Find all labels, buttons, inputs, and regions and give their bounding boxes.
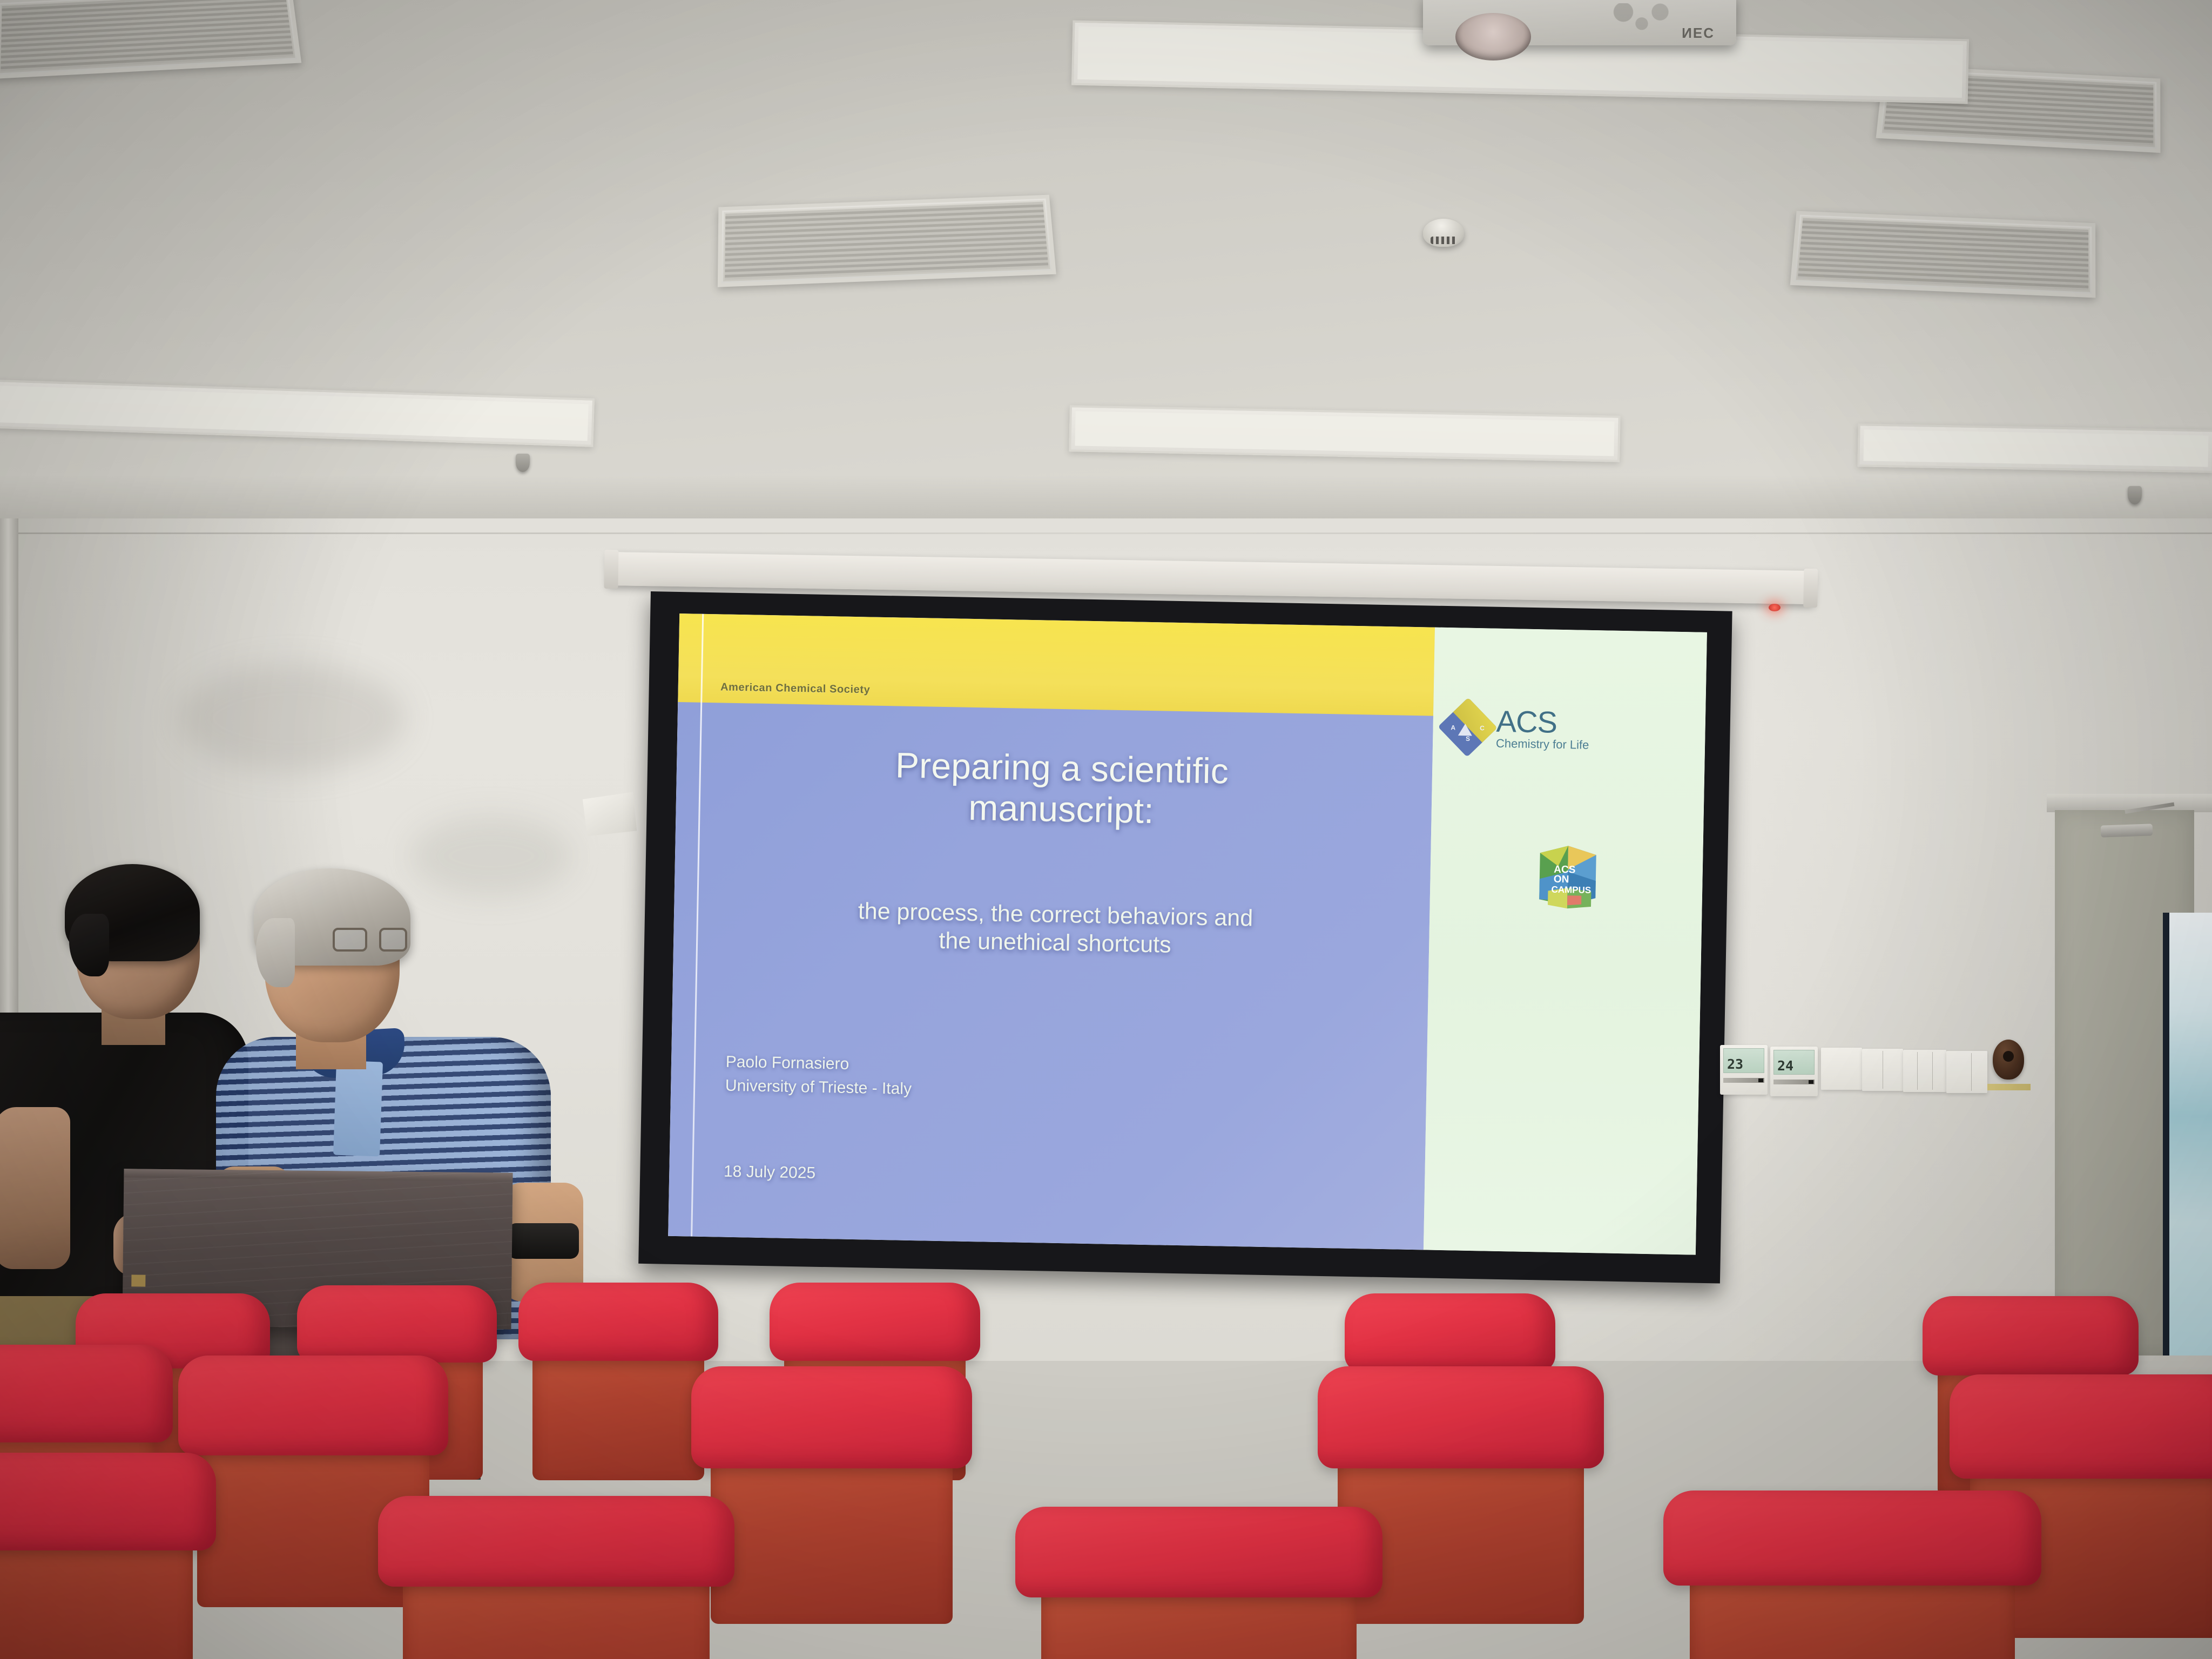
ceiling-light-panel-4 <box>1857 423 2212 473</box>
slide-title: Preparing a scientific manuscript: <box>721 742 1402 836</box>
door-closer-body <box>2101 824 2153 837</box>
vent-louvers <box>1 0 293 71</box>
acs-diamond-icon: A C S <box>1438 698 1497 757</box>
window-glazing <box>2163 913 2212 1355</box>
thermostat-2-slider[interactable] <box>1773 1080 1815 1084</box>
acs-wordmark-text: ACS <box>1496 706 1589 738</box>
acs-society-label: American Chemical Society <box>720 682 871 697</box>
switch-divider <box>1917 1052 1918 1090</box>
seat-headrest <box>691 1366 972 1468</box>
light-switch-plate-2[interactable] <box>1862 1049 1903 1091</box>
acs-letter-c: C <box>1480 724 1485 732</box>
sprinkler-head-icon <box>516 454 530 472</box>
light-switch-plate-3[interactable] <box>1903 1050 1946 1092</box>
seat-headrest <box>1318 1366 1604 1468</box>
screen-status-led <box>1769 604 1781 611</box>
slide-date: 18 July 2025 <box>724 1162 816 1182</box>
glasses-lens-right <box>379 928 407 952</box>
presentation-slide: American Chemical Society Preparing a sc… <box>668 613 1707 1255</box>
acs-diamond-letters: A C S <box>1446 706 1489 748</box>
ceiling-projector: NEC <box>1423 0 1736 45</box>
thermostat-1[interactable]: 23 <box>1720 1045 1768 1095</box>
presenter-right-placket <box>333 1061 383 1157</box>
acs-tagline: Chemistry for Life <box>1496 738 1589 751</box>
seat-headrest <box>1015 1507 1382 1597</box>
switch-divider <box>1883 1051 1883 1089</box>
svg-text:ON: ON <box>1554 874 1569 886</box>
slide-logo-panel: A C S ACS Chemistry for Life <box>1424 628 1707 1255</box>
acs-logo: A C S ACS Chemistry for Life <box>1446 705 1692 753</box>
seat-headrest <box>178 1355 448 1455</box>
thermostat-1-temperature: 23 <box>1727 1056 1743 1072</box>
slide-author-affiliation: University of Trieste - Italy <box>725 1074 912 1101</box>
slide-accent-line <box>691 614 704 1237</box>
seat-headrest <box>1663 1491 2041 1586</box>
ceiling-vent-3 <box>1790 211 2096 298</box>
thermostat-2-display: 24 <box>1773 1050 1815 1075</box>
presenter-left-arm <box>0 1107 70 1269</box>
vent-louvers <box>725 202 1048 280</box>
seat-headrest <box>518 1283 718 1361</box>
seat-row1-2[interactable] <box>378 1496 734 1659</box>
smoke-detector-icon <box>1423 219 1464 247</box>
seat-row1-3[interactable] <box>1015 1507 1382 1659</box>
presenter-right-glasses-icon <box>333 928 404 953</box>
light-diffuser <box>1075 411 1614 456</box>
seat-row1-4[interactable] <box>1663 1491 2041 1659</box>
thermostat-2-temperature: 24 <box>1777 1058 1793 1074</box>
switch-divider <box>1971 1053 1972 1091</box>
slide-subtitle: the process, the correct behaviors and t… <box>704 894 1407 964</box>
thermostat-1-display: 23 <box>1723 1048 1764 1073</box>
acs-wordmark: ACS Chemistry for Life <box>1496 706 1590 751</box>
podium-badge <box>131 1274 145 1286</box>
wall-ceiling-seam <box>0 532 2212 534</box>
projector-vents <box>1596 3 1688 32</box>
slide-author-name: Paolo Fornasiero <box>725 1050 912 1077</box>
seat-headrest <box>1950 1374 2212 1479</box>
svg-text:CAMPUS: CAMPUS <box>1551 885 1591 895</box>
acs-letter-a: A <box>1451 724 1455 731</box>
sprinkler-head-icon-2 <box>2128 486 2142 504</box>
light-switch-plate-1[interactable] <box>1821 1048 1862 1090</box>
wall-sensor-icon <box>1993 1040 2024 1080</box>
seat-headrest <box>0 1453 216 1550</box>
screen-end-cap-right <box>1803 569 1818 608</box>
wall-sensor-label <box>1987 1084 2031 1090</box>
switch-divider <box>1932 1052 1933 1090</box>
slide-author-block: Paolo Fornasiero University of Trieste -… <box>725 1050 913 1101</box>
light-diffuser <box>1864 429 2209 467</box>
slide-yellow-band: American Chemical Society <box>678 613 1434 716</box>
ceiling-vent-2 <box>718 195 1056 287</box>
thermostat-1-slider[interactable] <box>1723 1078 1764 1083</box>
lecture-hall-photo: NEC American Chemical Society Preparing … <box>0 0 2212 1659</box>
acs-letter-s: S <box>1466 735 1470 743</box>
seat-headrest <box>378 1496 734 1587</box>
seat-headrest <box>297 1285 497 1363</box>
thermostat-2[interactable]: 24 <box>1770 1047 1818 1096</box>
acs-on-campus-svg: ACS ON CAMPUS <box>1535 841 1601 912</box>
seat-headrest <box>1345 1293 1555 1372</box>
seat-headrest <box>1923 1296 2139 1375</box>
projector-lens-icon <box>1455 13 1531 60</box>
projector-brand-label: NEC <box>1682 24 1715 41</box>
wall-smudge-a <box>178 664 405 772</box>
presenter-left-hair <box>65 864 200 961</box>
screen-end-cap-left <box>604 550 618 589</box>
vent-louvers <box>1798 218 2088 291</box>
screen-surface: American Chemical Society Preparing a sc… <box>668 613 1707 1255</box>
presenter-right-wristwatch <box>508 1223 579 1259</box>
seat-headrest <box>0 1345 173 1442</box>
seat-row1-1[interactable] <box>0 1453 216 1659</box>
seat-row3-3[interactable] <box>518 1283 718 1469</box>
glasses-lens-left <box>333 928 367 952</box>
slide-main-panel: American Chemical Society Preparing a sc… <box>668 613 1435 1250</box>
projection-screen: American Chemical Society Preparing a sc… <box>638 591 1732 1283</box>
seat-headrest <box>770 1283 980 1361</box>
light-switch-plate-4[interactable] <box>1946 1051 1987 1093</box>
wall-smudge-b <box>410 815 572 896</box>
acs-on-campus-logo: ACS ON CAMPUS <box>1535 841 1601 912</box>
